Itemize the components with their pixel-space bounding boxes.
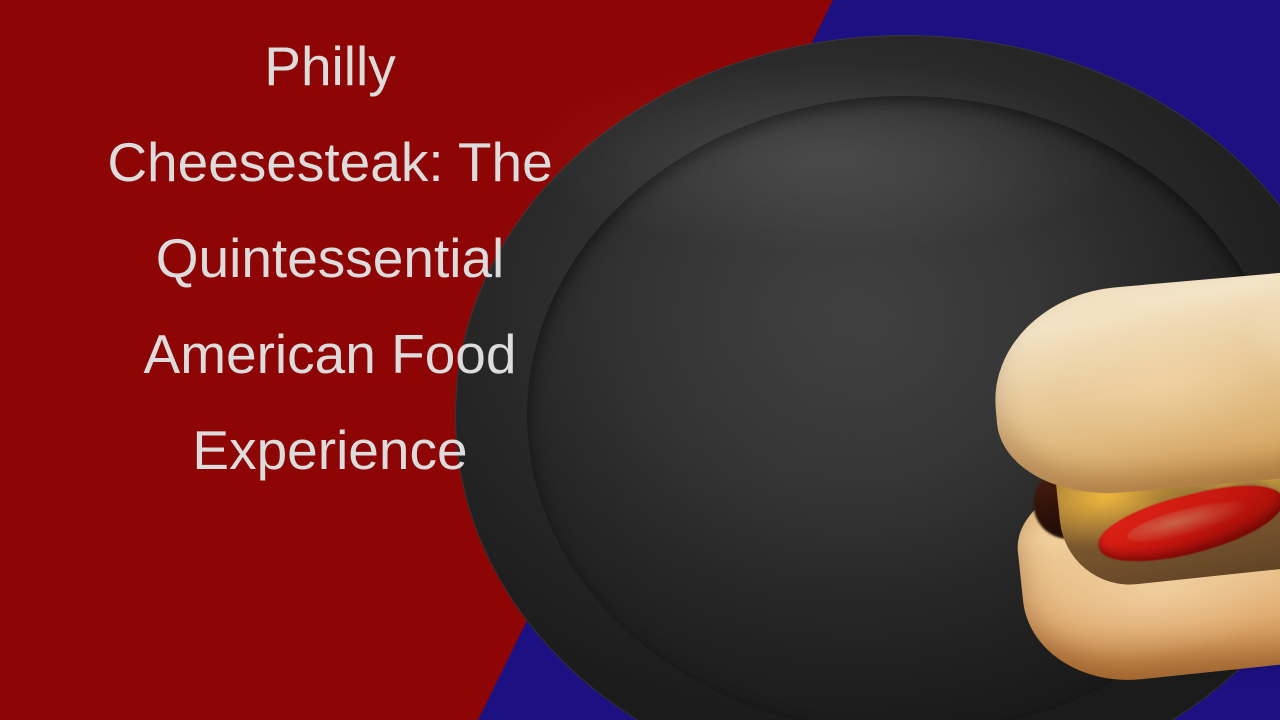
slide-canvas: Philly Cheesesteak: The Quintessential A… [0,0,1280,720]
slide-title: Philly Cheesesteak: The Quintessential A… [0,18,660,498]
